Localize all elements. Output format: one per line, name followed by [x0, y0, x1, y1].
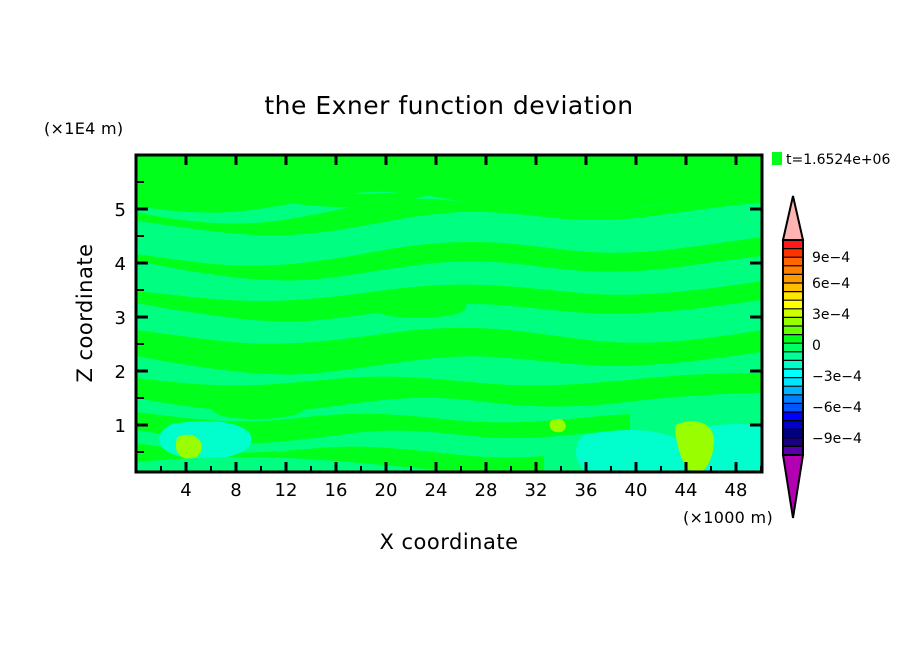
- contour-patch-negative: [159, 421, 251, 459]
- contour-sliver-positive: [374, 296, 466, 318]
- x-tick-label: 48: [725, 480, 748, 501]
- x-tick-label: 44: [675, 480, 698, 501]
- colorbar-swatch: [783, 369, 803, 378]
- y-tick-label: 1: [115, 416, 126, 437]
- x-tick-label: 40: [625, 480, 648, 501]
- page-title: the Exner function deviation: [264, 91, 633, 120]
- colorbar-swatch: [783, 378, 803, 387]
- y-unit-label: (×1E4 m): [44, 119, 123, 138]
- y-tick-label: 5: [115, 200, 126, 221]
- x-tick-label: 8: [230, 480, 241, 501]
- colorbar-swatch: [783, 412, 803, 421]
- colorbar-swatch: [783, 249, 803, 258]
- x-tick-label: 32: [525, 480, 548, 501]
- contour-sliver-positive: [212, 397, 304, 419]
- colorbar-swatch: [783, 257, 803, 266]
- colorbar-swatch: [783, 335, 803, 344]
- colorbar-swatch: [783, 240, 803, 249]
- colorbar-tick-label: −3e−4: [812, 369, 862, 385]
- colorbar-swatch: [783, 266, 803, 275]
- x-tick-label: 4: [180, 480, 191, 501]
- colorbar-swatch: [783, 403, 803, 412]
- colorbar-tick-label: 0: [812, 338, 821, 354]
- colorbar-swatch: [783, 309, 803, 318]
- exner-deviation-figure: the Exner function deviation (×1E4 m): [0, 0, 904, 654]
- time-swatch-icon: [772, 152, 782, 165]
- colorbar-tick-label: 6e−4: [812, 276, 850, 292]
- x-axis-title: X coordinate: [379, 530, 518, 554]
- y-tick-label: 4: [115, 254, 126, 275]
- colorbar-swatch: [783, 343, 803, 352]
- colorbar-swatch: [783, 395, 803, 404]
- colorbar-tick-label: −6e−4: [812, 400, 862, 416]
- colorbar-tick-label: 3e−4: [812, 307, 850, 323]
- colorbar-tick-label: 9e−4: [812, 250, 850, 266]
- colorbar-swatch: [783, 446, 803, 455]
- colorbar-swatch: [783, 274, 803, 283]
- x-tick-label: 16: [325, 480, 348, 501]
- colorbar-swatch: [783, 386, 803, 395]
- colorbar-swatch: [783, 438, 803, 447]
- time-annotation: t=1.6524e+06: [772, 152, 890, 168]
- colorbar-swatch: [783, 317, 803, 326]
- x-tick-label: 20: [375, 480, 398, 501]
- colorbar-swatch: [783, 300, 803, 309]
- colorbar-swatch: [783, 360, 803, 369]
- y-axis-title: Z coordinate: [73, 243, 97, 382]
- time-label-text: t=1.6524e+06: [786, 152, 890, 168]
- x-unit-label: (×1000 m): [683, 508, 773, 527]
- y-tick-label: 3: [115, 308, 126, 329]
- contour-plot-area: [136, 155, 762, 474]
- x-tick-label: 36: [575, 480, 598, 501]
- x-tick-label: 28: [475, 480, 498, 501]
- colorbar-swatch: [783, 283, 803, 292]
- figure-canvas: the Exner function deviation (×1E4 m): [0, 0, 904, 654]
- x-tick-label: 24: [425, 480, 448, 501]
- x-tick-label: 12: [275, 480, 298, 501]
- colorbar-swatch: [783, 421, 803, 430]
- colorbar-tick-label: −9e−4: [812, 431, 862, 447]
- colorbar-swatch: [783, 429, 803, 438]
- colorbar-swatch: [783, 352, 803, 361]
- colorbar-swatch: [783, 292, 803, 301]
- colorbar-swatch: [783, 326, 803, 335]
- y-tick-label: 2: [115, 362, 126, 383]
- colorbar-swatches: [783, 240, 803, 455]
